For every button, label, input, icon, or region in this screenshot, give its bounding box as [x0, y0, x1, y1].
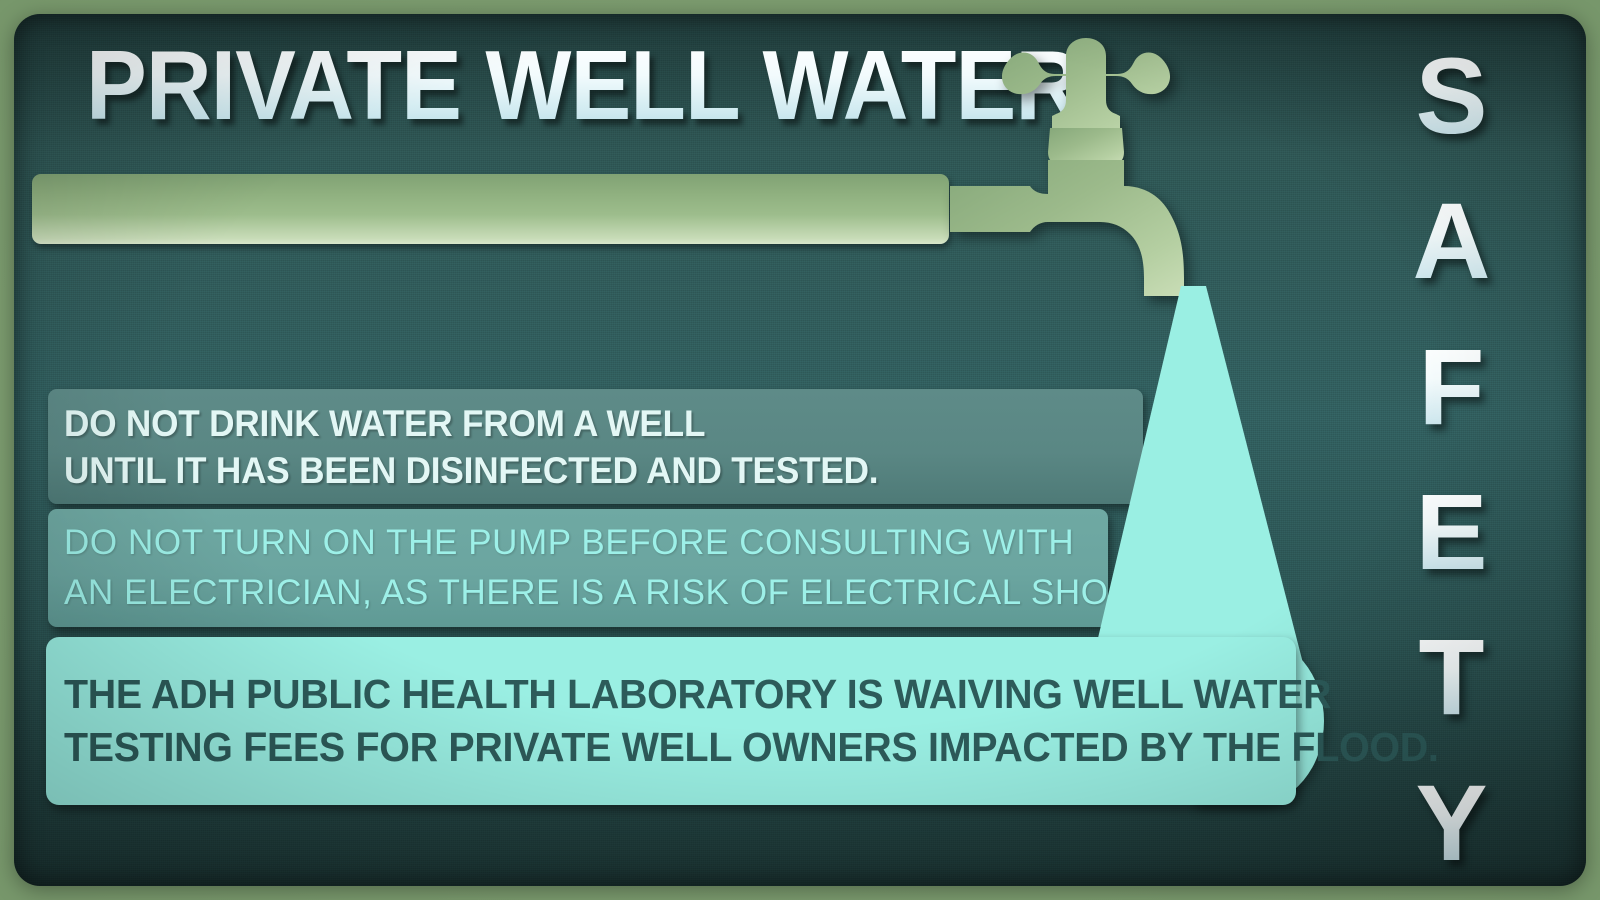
message-line: AN ELECTRICIAN, AS THERE IS A RISK OF EL…	[64, 568, 1108, 618]
message-block-do-not-turn-on-pump: DO NOT TURN ON THE PUMP BEFORE CONSULTIN…	[48, 509, 1108, 627]
message-block-do-not-drink: DO NOT DRINK WATER FROM A WELL UNTIL IT …	[48, 389, 1143, 504]
safety-letter-a: A	[1413, 191, 1491, 290]
safety-letter-t: T	[1419, 627, 1485, 726]
page-title: PRIVATE WELL WATER	[86, 36, 1080, 134]
message-line: TESTING FEES FOR PRIVATE WELL OWNERS IMP…	[64, 721, 1247, 774]
pipe-bar-graphic	[32, 174, 949, 244]
message-line: DO NOT DRINK WATER FROM A WELL	[64, 400, 1089, 447]
safety-letter-f: F	[1419, 337, 1485, 436]
safety-letter-y: Y	[1415, 773, 1487, 872]
safety-vertical-word: S A F E T Y	[1359, 32, 1544, 882]
message-line: DO NOT TURN ON THE PUMP BEFORE CONSULTIN…	[64, 518, 1108, 568]
message-line: UNTIL IT HAS BEEN DISINFECTED AND TESTED…	[64, 447, 1089, 494]
message-line: THE ADH PUBLIC HEALTH LABORATORY IS WAIV…	[64, 668, 1247, 721]
safety-letter-s: S	[1415, 46, 1487, 145]
faucet-icon	[944, 34, 1244, 304]
poster-canvas: PRIVATE WELL WATER	[0, 0, 1600, 900]
poster-panel: PRIVATE WELL WATER	[14, 14, 1586, 886]
message-block-adh-lab-waiving-fees: THE ADH PUBLIC HEALTH LABORATORY IS WAIV…	[46, 637, 1296, 805]
safety-letter-e: E	[1415, 482, 1487, 581]
